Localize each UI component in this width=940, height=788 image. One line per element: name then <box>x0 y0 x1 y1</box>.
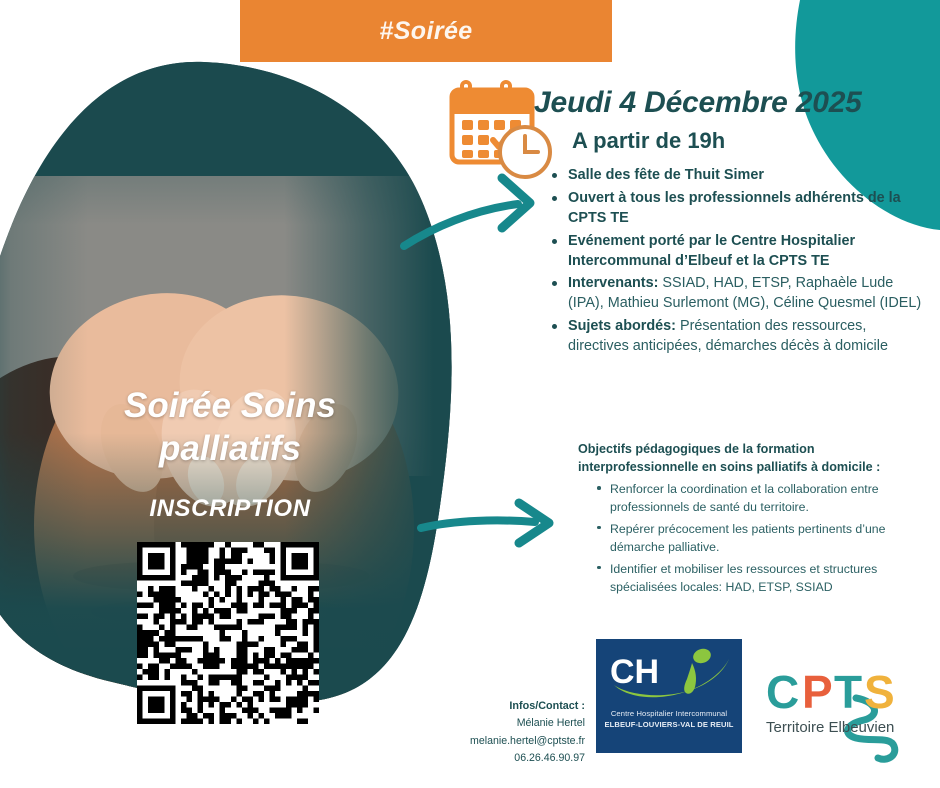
svg-text:P: P <box>802 666 833 718</box>
contact-block: Infos/Contact : Mélanie Hertel melanie.h… <box>430 698 585 767</box>
svg-text:T: T <box>834 666 862 718</box>
page-title: Soirée Soins palliatifs <box>60 385 400 470</box>
objective-item: Identifier et mobiliser les ressources e… <box>610 560 930 597</box>
arrow-right-icon-2 <box>415 498 575 553</box>
chi-line-2: ELBEUF-LOUVIERS-VAL DE REUIL <box>604 720 733 729</box>
event-detail-item: Ouvert à tous les professionnels adhéren… <box>568 189 928 229</box>
contact-phone: 06.26.46.90.97 <box>430 750 585 767</box>
chi-logo: CH Centre Hospitalier Intercommunal ELBE… <box>596 639 742 753</box>
contact-label: Infos/Contact : <box>430 698 585 715</box>
contact-email[interactable]: melanie.hertel@cptste.fr <box>430 733 585 750</box>
title-line-1: Soirée Soins <box>60 385 400 428</box>
event-detail-item: Evénement porté par le Centre Hospitalie… <box>568 232 928 272</box>
event-time: A partir de 19h <box>572 128 725 154</box>
event-detail-label: Intervenants: <box>568 275 658 291</box>
objective-item: Renforcer la coordination et la collabor… <box>610 480 930 517</box>
event-details-list: Salle des fête de Thuit SimerOuvert à to… <box>548 166 928 360</box>
event-detail-label: Sujets abordés: <box>568 318 676 334</box>
poster: #Soirée <box>0 0 940 788</box>
event-date: Jeudi 4 Décembre 2025 <box>534 86 934 120</box>
cpts-tagline: Territoire Elbeuvien <box>766 719 894 736</box>
svg-text:CH: CH <box>610 653 659 691</box>
inscription-label: INSCRIPTION <box>60 495 400 523</box>
arrow-right-icon <box>398 158 558 258</box>
objectives-list: Renforcer la coordination et la collabor… <box>594 480 930 600</box>
svg-text:S: S <box>864 666 895 718</box>
qr-code[interactable] <box>137 542 319 724</box>
contact-name: Mélanie Hertel <box>430 715 585 732</box>
hashtag-text: #Soirée <box>379 17 472 46</box>
title-line-2: palliatifs <box>60 428 400 471</box>
cpts-logo: C P T S Territoire Elbeuvien <box>760 658 930 766</box>
event-detail-item: Salle des fête de Thuit Simer <box>568 166 928 186</box>
event-detail-item: Sujets abordés: Présentation des ressour… <box>568 317 928 357</box>
hashtag-banner: #Soirée <box>240 0 612 62</box>
svg-text:C: C <box>766 666 799 718</box>
event-detail-item: Intervenants: SSIAD, HAD, ETSP, Raphaèle… <box>568 274 928 314</box>
objectives-heading: Objectifs pédagogiques de la formation i… <box>578 440 908 477</box>
chi-line-1: Centre Hospitalier Intercommunal <box>611 709 727 718</box>
objective-item: Repérer précocement les patients pertine… <box>610 520 930 557</box>
